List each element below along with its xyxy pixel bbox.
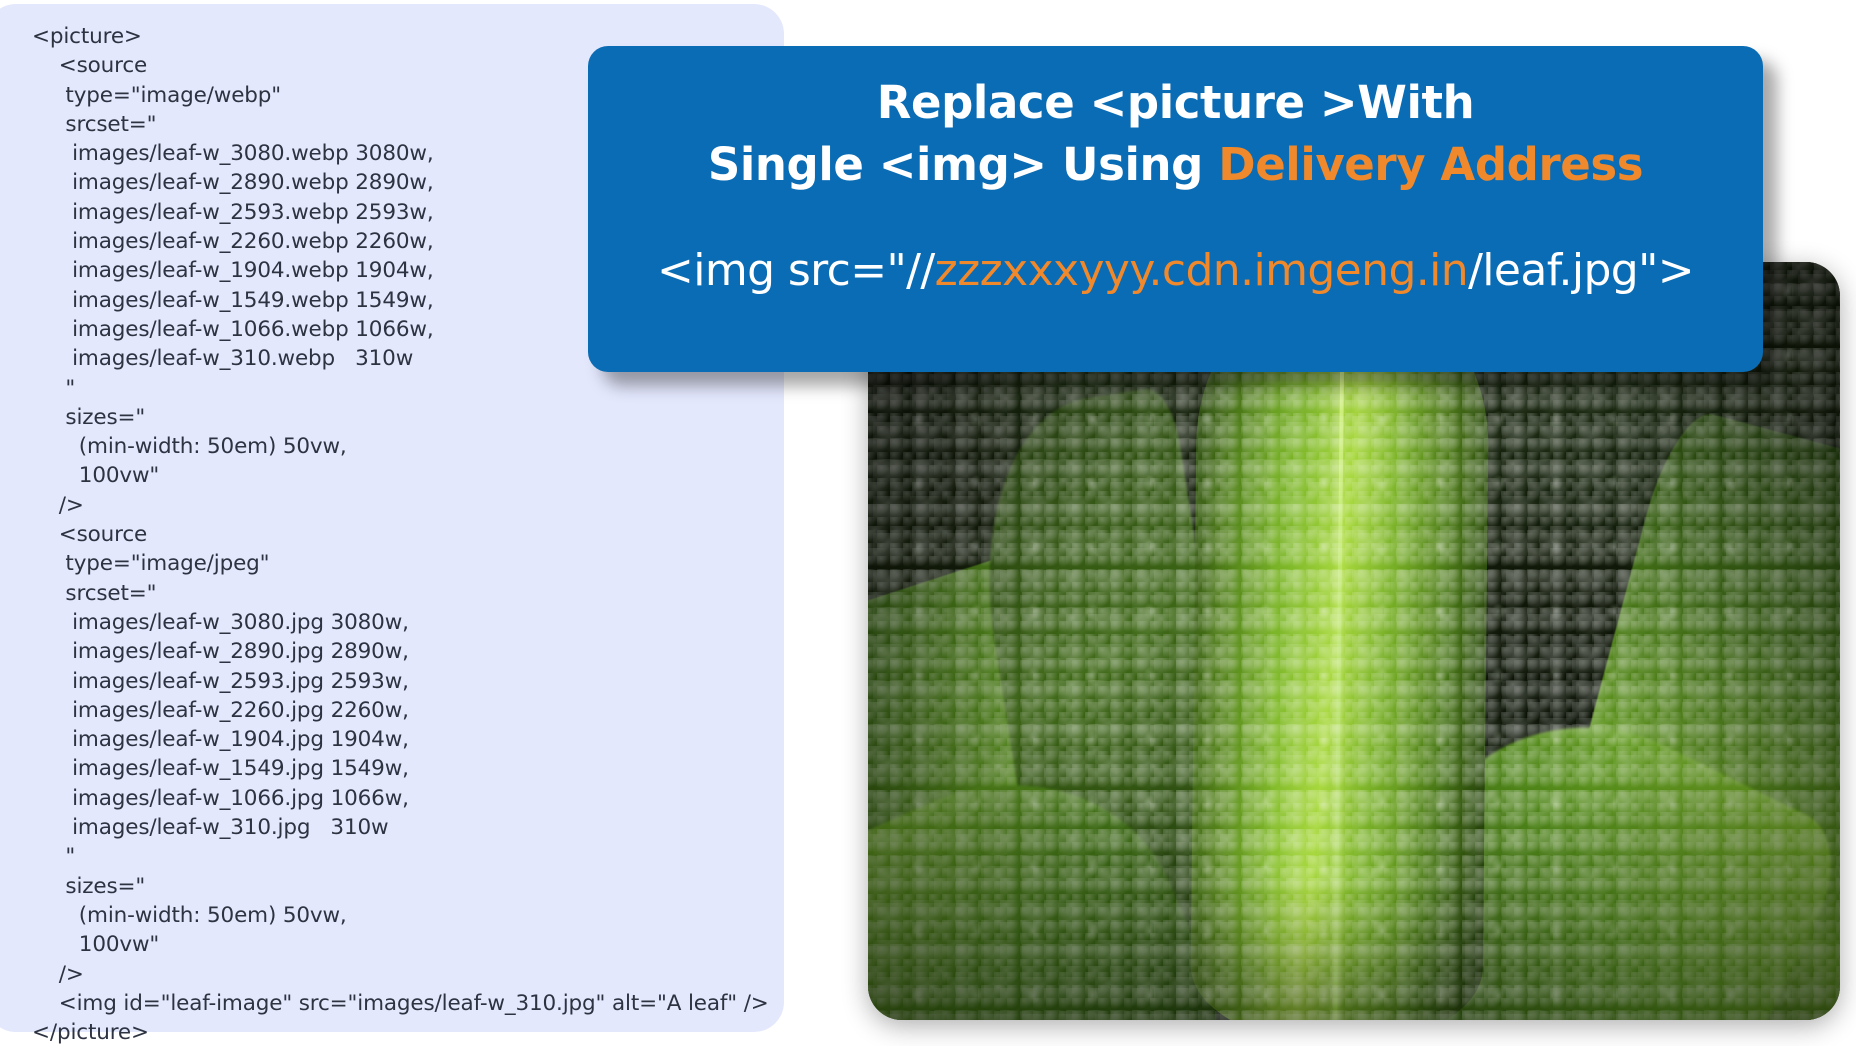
headline-line-1: Replace <picture >With xyxy=(877,76,1475,129)
code-domain-accent: zzzxxxyyy.cdn.imgeng.in xyxy=(935,245,1468,296)
callout-banner: Replace <picture >With Single <img> Usin… xyxy=(588,46,1763,372)
slide-canvas: <picture> <source type="image/webp" srcs… xyxy=(0,0,1856,1046)
banner-headline: Replace <picture >With Single <img> Usin… xyxy=(588,72,1763,196)
photo-vignette xyxy=(868,262,1840,1020)
headline-line-2-plain: Single <img> Using xyxy=(708,138,1218,191)
code-suffix: /leaf.jpg"> xyxy=(1468,245,1694,296)
banner-code-line: <img src="//zzzxxxyyy.cdn.imgeng.in/leaf… xyxy=(588,242,1763,300)
code-prefix: <img src="// xyxy=(657,245,935,296)
leaf-photo xyxy=(868,262,1840,1020)
headline-line-2-accent: Delivery Address xyxy=(1218,138,1643,191)
